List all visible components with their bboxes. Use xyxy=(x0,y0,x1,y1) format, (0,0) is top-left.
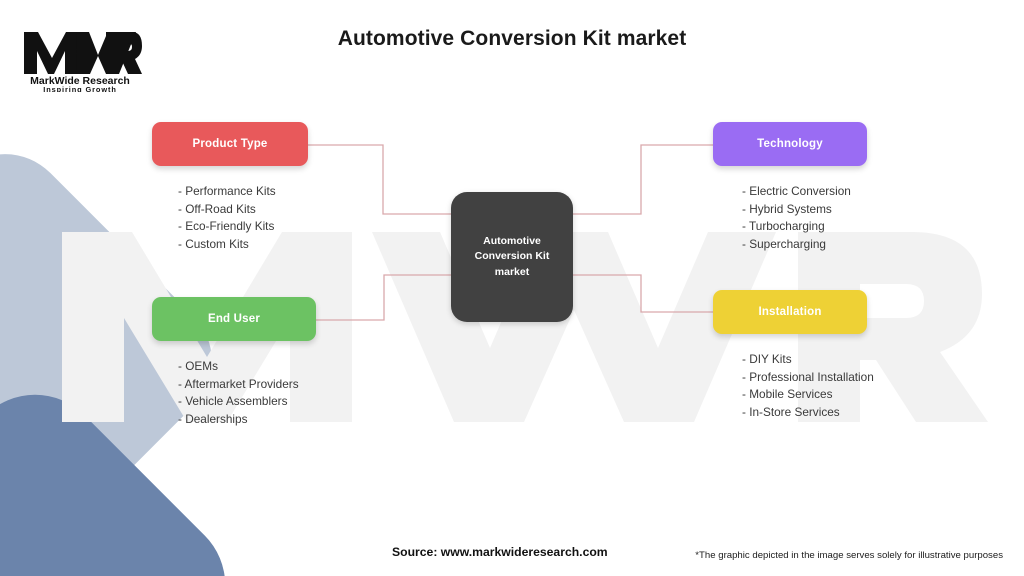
page-title: Automotive Conversion Kit market xyxy=(0,27,1024,51)
infographic-canvas: MarkWide Research Inspiring Growth Autom… xyxy=(0,0,1024,576)
disclaimer-note: *The graphic depicted in the image serve… xyxy=(695,550,1003,561)
list-item: - DIY Kits xyxy=(742,351,867,369)
branch-product-type-list: - Performance Kits - Off-Road Kits - Eco… xyxy=(178,183,308,253)
logo-tagline: Inspiring Growth xyxy=(43,85,117,92)
list-item: - Vehicle Assemblers xyxy=(178,393,316,411)
branch-product-type: Product Type - Performance Kits - Off-Ro… xyxy=(152,122,308,253)
branch-end-user-header[interactable]: End User xyxy=(152,297,316,341)
branch-product-type-header[interactable]: Product Type xyxy=(152,122,308,166)
branch-end-user: End User - OEMs - Aftermarket Providers … xyxy=(152,297,316,428)
branch-installation-header[interactable]: Installation xyxy=(713,290,867,334)
list-item: - Off-Road Kits xyxy=(178,201,308,219)
branch-technology-list: - Electric Conversion - Hybrid Systems -… xyxy=(742,183,867,253)
branch-end-user-list: - OEMs - Aftermarket Providers - Vehicle… xyxy=(178,358,316,428)
connector-product-type xyxy=(307,145,451,214)
branch-technology-label: Technology xyxy=(757,138,823,150)
list-item: - In-Store Services xyxy=(742,404,867,422)
center-node: Automotive Conversion Kit market xyxy=(451,192,573,322)
list-item: - Performance Kits xyxy=(178,183,308,201)
connector-technology xyxy=(573,145,713,214)
branch-installation-list: - DIY Kits - Professional Installation -… xyxy=(742,351,867,421)
branch-end-user-label: End User xyxy=(208,313,260,325)
center-node-label: Automotive Conversion Kit market xyxy=(451,234,573,280)
branch-installation: Installation - DIY Kits - Professional I… xyxy=(713,290,867,421)
branch-technology: Technology - Electric Conversion - Hybri… xyxy=(713,122,867,253)
list-item: - OEMs xyxy=(178,358,316,376)
connector-end-user xyxy=(316,275,451,320)
connector-installation xyxy=(573,275,713,312)
list-item: - Mobile Services xyxy=(742,386,867,404)
list-item: - Eco-Friendly Kits xyxy=(178,218,308,236)
list-item: - Dealerships xyxy=(178,411,316,429)
branch-product-type-label: Product Type xyxy=(192,138,267,150)
branch-technology-header[interactable]: Technology xyxy=(713,122,867,166)
list-item: - Hybrid Systems xyxy=(742,201,867,219)
list-item: - Supercharging xyxy=(742,236,867,254)
list-item: - Electric Conversion xyxy=(742,183,867,201)
list-item: - Professional Installation xyxy=(742,369,867,387)
list-item: - Aftermarket Providers xyxy=(178,376,316,394)
source-note: Source: www.markwideresearch.com xyxy=(392,545,608,559)
branch-installation-label: Installation xyxy=(758,306,821,318)
list-item: - Custom Kits xyxy=(178,236,308,254)
list-item: - Turbocharging xyxy=(742,218,867,236)
